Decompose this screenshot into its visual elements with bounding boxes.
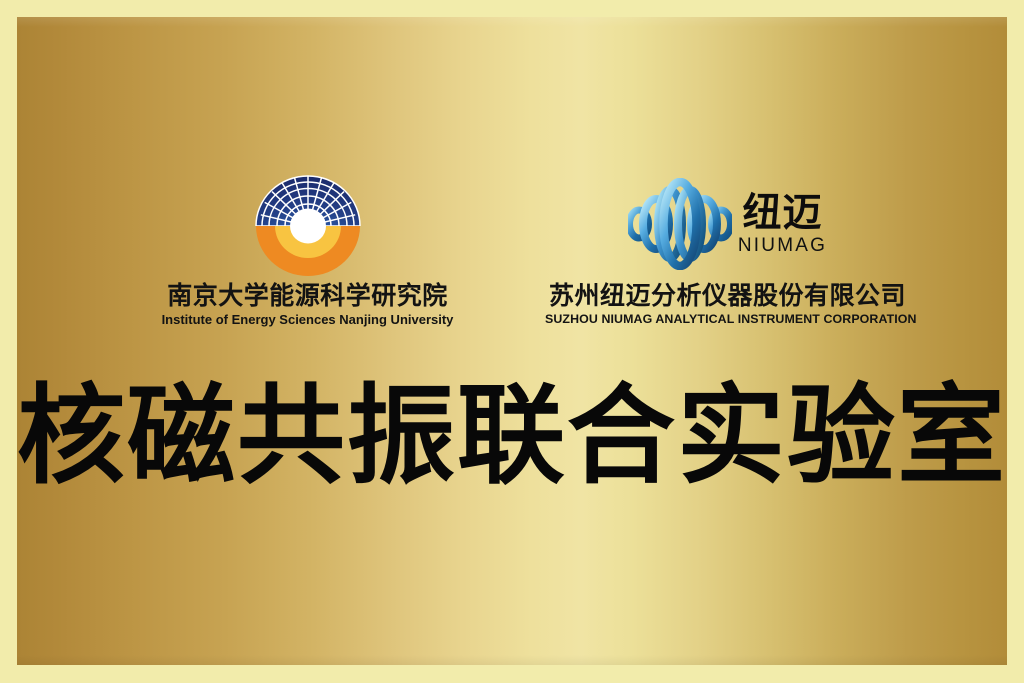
plaque-title: 核磁共振联合实验室 [17,383,1007,491]
niumag-logo-mark-area: 纽迈 NIUMAG [545,165,910,283]
partner-name-cn-nanjing-university: 南京大学能源科学研究院 [160,283,455,309]
nju-sun-core [290,209,326,244]
niumag-lockup: 纽迈 NIUMAG [628,178,827,270]
plaque-gold-panel: 南京大学能源科学研究院 Institute of Energy Sciences… [17,17,1007,665]
niumag-brand-en: NIUMAG [738,236,827,255]
plaque-outer-frame: 南京大学能源科学研究院 Institute of Energy Sciences… [0,0,1024,683]
nju-energy-sun-emblem-icon [249,168,367,280]
nju-logo-mark-area [160,165,455,283]
niumag-brand-cn: 纽迈 [742,194,822,233]
partner-logos-row: 南京大学能源科学研究院 Institute of Energy Sciences… [17,165,1007,355]
partner-block-suzhou-niumag: 纽迈 NIUMAG 苏州纽迈分析仪器股份有限公司 SUZHOU NIUMAG A… [545,165,910,327]
partner-name-cn-suzhou-niumag: 苏州纽迈分析仪器股份有限公司 [545,283,910,309]
partner-name-en-suzhou-niumag: SUZHOU NIUMAG ANALYTICAL INSTRUMENT CORP… [545,313,910,327]
niumag-waveform-rings-icon [628,178,732,270]
niumag-wordmark: 纽迈 NIUMAG [738,194,827,255]
partner-block-nanjing-university: 南京大学能源科学研究院 Institute of Energy Sciences… [160,165,455,328]
partner-name-en-nanjing-university: Institute of Energy Sciences Nanjing Uni… [160,313,455,327]
